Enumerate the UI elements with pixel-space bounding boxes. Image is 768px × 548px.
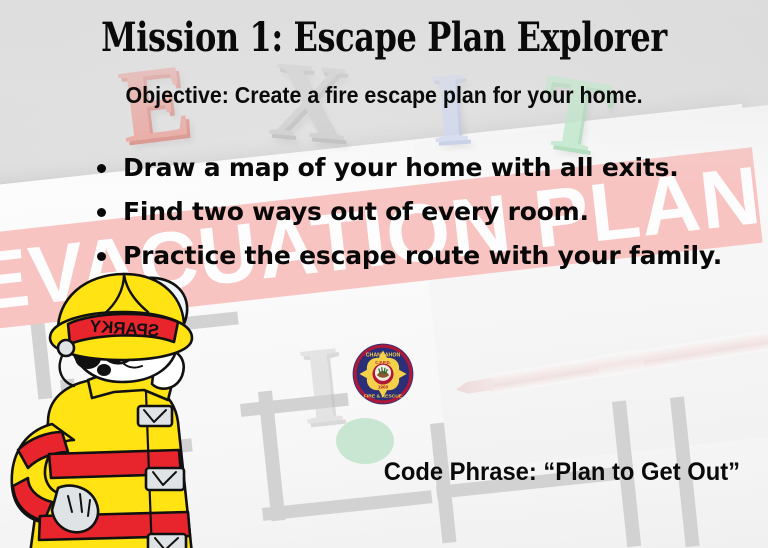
badge-year: 1960	[378, 384, 389, 389]
bullet-dot-icon	[97, 252, 106, 261]
list-item-label: Find two ways out of every room.	[123, 197, 589, 226]
bullet-dot-icon	[97, 208, 106, 217]
bullet-dot-icon	[97, 164, 106, 173]
badge-center-label: C.F.P.D.	[375, 360, 391, 365]
list-item-label: Draw a map of your home with all exits.	[123, 153, 679, 182]
badge-top-text: CHANNAHON	[366, 353, 401, 359]
list-item: Find two ways out of every room.	[95, 190, 755, 234]
task-list: Draw a map of your home with all exits. …	[95, 146, 755, 278]
list-item: Draw a map of your home with all exits.	[95, 146, 755, 190]
page-title: Mission 1: Escape Plan Explorer	[77, 14, 691, 61]
fire-department-badge-icon: CHANNAHON C.F.P.D. 1960 FIRE & RESCUE	[352, 343, 414, 405]
slide-canvas: EVACUATION PLAN E X I T I Mission 1: Esc…	[0, 0, 768, 548]
slide-content: Mission 1: Escape Plan Explorer Objectiv…	[0, 0, 768, 548]
sparky-mascot-icon: SPARKY	[0, 272, 226, 548]
badge-bottom-text: FIRE & RESCUE	[364, 394, 403, 400]
objective-line: Objective: Create a fire escape plan for…	[27, 82, 741, 109]
list-item-label: Practice the escape route with your fami…	[123, 241, 722, 270]
